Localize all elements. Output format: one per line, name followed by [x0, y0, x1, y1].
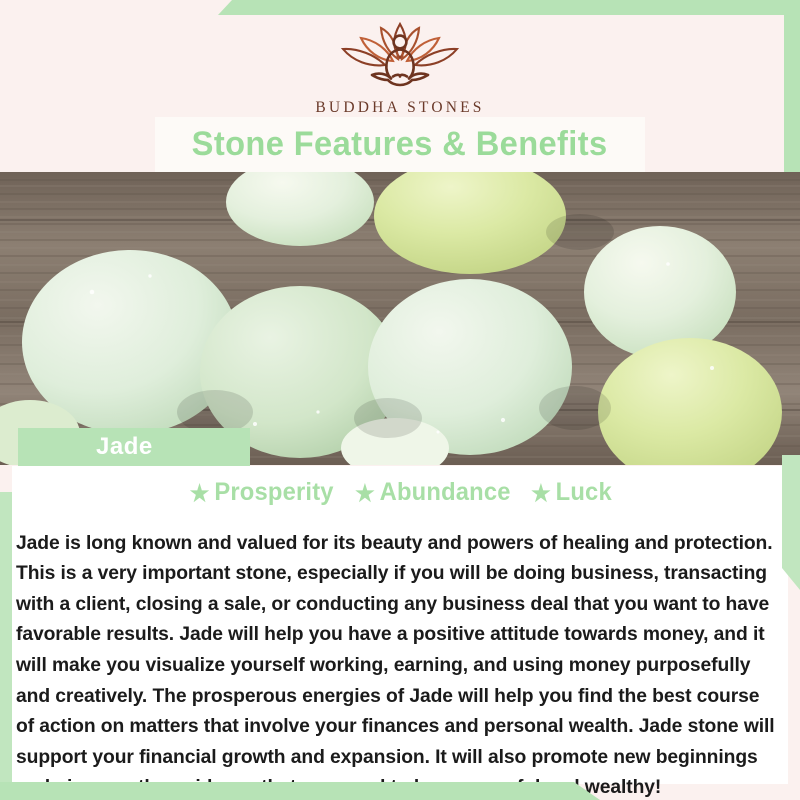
benefit-label: Prosperity [214, 478, 333, 506]
star-icon: ★ [190, 480, 210, 507]
decor-green-top-strip [218, 0, 800, 15]
decor-green-bottom-strip [0, 782, 600, 800]
brand-logo-block: BUDDHA STONES [0, 14, 800, 118]
benefit-item: ★Luck [531, 478, 612, 507]
decor-green-right-body [782, 455, 800, 590]
title-banner: Stone Features & Benefits [155, 117, 645, 172]
benefits-row: ★Prosperity★Abundance★Luck [0, 478, 800, 507]
benefit-label: Abundance [380, 478, 511, 506]
star-icon: ★ [531, 480, 551, 507]
star-icon: ★ [355, 480, 375, 507]
stone-name-chip: Jade [18, 428, 250, 466]
lotus-meditation-icon [325, 14, 475, 97]
benefit-item: ★Abundance [355, 478, 511, 507]
page-title: Stone Features & Benefits [192, 125, 608, 164]
brand-name: BUDDHA STONES [315, 99, 484, 117]
stone-description: Jade is long known and valued for its be… [16, 528, 776, 800]
jade-stones-photo [0, 172, 800, 465]
stone-info-card: BUDDHA STONES Stone Features & Benefits [0, 0, 800, 800]
stone-name: Jade [96, 433, 153, 461]
benefit-item: ★Prosperity [190, 478, 334, 507]
decor-green-left-body [0, 492, 12, 784]
benefit-label: Luck [556, 478, 612, 506]
